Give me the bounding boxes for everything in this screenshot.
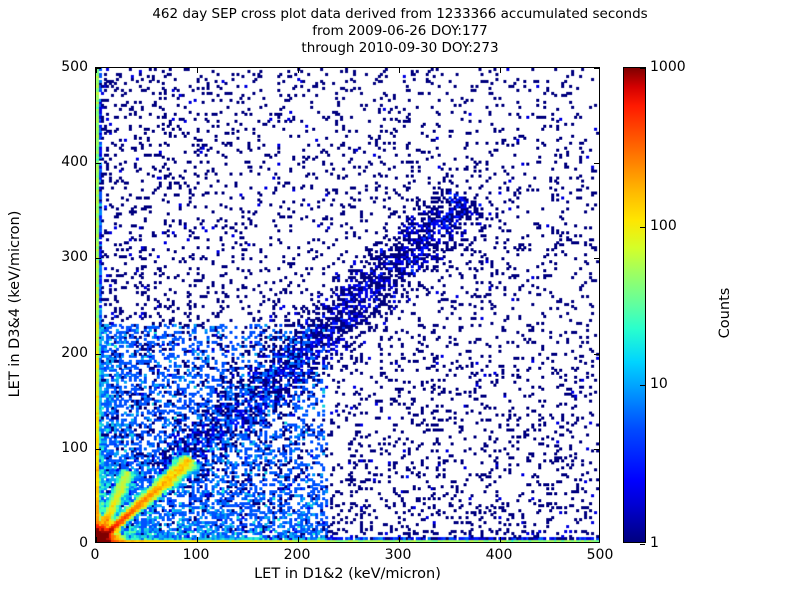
- x-axis-tick: [96, 537, 97, 542]
- colorbar-tick-label: 1000: [650, 59, 686, 75]
- y-axis-tick-label: 200: [44, 345, 88, 361]
- chart-title-line-3: through 2010-09-30 DOY:273: [0, 40, 800, 57]
- y-axis-tick: [96, 258, 101, 259]
- chart-title-line-1: 462 day SEP cross plot data derived from…: [0, 6, 800, 23]
- colorbar-tick: [640, 385, 645, 386]
- colorbar-tick: [640, 227, 645, 228]
- x-axis-tick: [500, 537, 501, 542]
- x-axis-tick-label: 100: [183, 547, 210, 563]
- y-axis-tick: [594, 68, 599, 69]
- x-axis-tick-label: 200: [284, 547, 311, 563]
- x-axis-tick-label: 500: [587, 547, 614, 563]
- x-axis-tick: [298, 68, 299, 73]
- colorbar-tick: [640, 544, 645, 545]
- colorbar-tick: [640, 68, 645, 69]
- plot-area: [95, 67, 600, 543]
- y-axis-label: LET in D3&4 (keV/micron): [7, 66, 23, 542]
- x-axis-tick-label: 300: [385, 547, 412, 563]
- x-axis-tick: [399, 537, 400, 542]
- colorbar-tick-label: 100: [650, 218, 677, 234]
- y-axis-tick-label: 300: [44, 249, 88, 265]
- x-axis-tick: [197, 68, 198, 73]
- x-axis-tick: [298, 537, 299, 542]
- x-axis-tick-label: 0: [91, 547, 100, 563]
- y-axis-tick-label: 100: [44, 440, 88, 456]
- colorbar-label: Counts: [717, 193, 733, 433]
- y-axis-tick-label: 500: [44, 59, 88, 75]
- y-axis-tick: [594, 354, 599, 355]
- chart-title-line-2: from 2009-06-26 DOY:177: [0, 23, 800, 40]
- x-axis-tick: [197, 537, 198, 542]
- y-axis-tick: [594, 258, 599, 259]
- density-heatmap-canvas: [96, 68, 599, 542]
- y-axis-tick: [96, 68, 101, 69]
- colorbar-tick-label: 1: [650, 535, 659, 551]
- y-axis-tick-label: 0: [44, 535, 88, 551]
- colorbar: [623, 67, 646, 543]
- x-axis-tick: [399, 68, 400, 73]
- x-axis-tick-label: 400: [486, 547, 513, 563]
- x-axis-label: LET in D1&2 (keV/micron): [95, 566, 600, 582]
- y-axis-tick: [96, 163, 101, 164]
- y-axis-tick: [594, 449, 599, 450]
- y-axis-tick-label: 400: [44, 154, 88, 170]
- chart-title: 462 day SEP cross plot data derived from…: [0, 6, 800, 57]
- y-axis-tick: [96, 354, 101, 355]
- y-axis-tick: [594, 163, 599, 164]
- y-axis-tick: [96, 449, 101, 450]
- colorbar-tick-label: 10: [650, 376, 668, 392]
- x-axis-tick: [500, 68, 501, 73]
